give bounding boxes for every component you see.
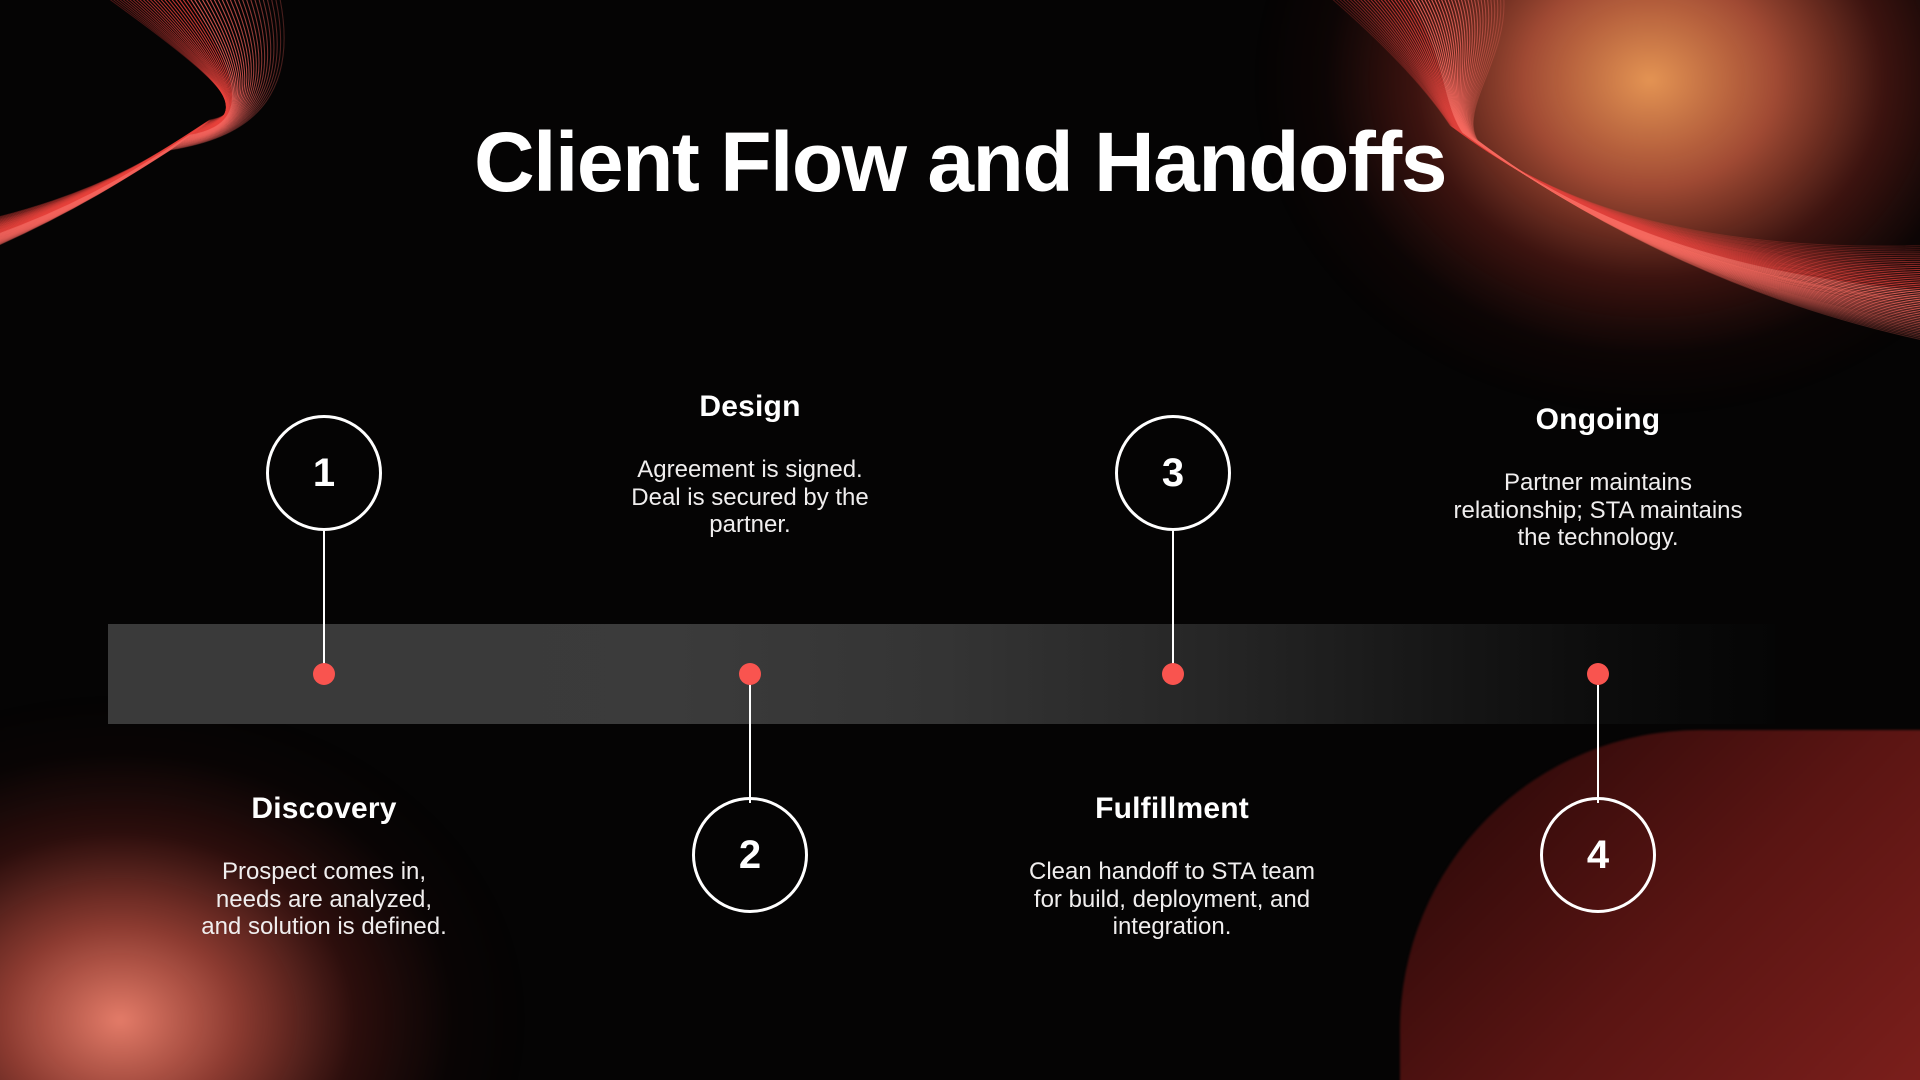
step-marker-2[interactable]: 2 (692, 797, 808, 913)
step-label-2: Design Agreement is signed. Deal is secu… (490, 390, 1010, 539)
step-connector-2 (749, 679, 751, 803)
timeline-bar (108, 624, 1775, 724)
step-dot-4[interactable] (1587, 663, 1609, 685)
step-body-line: Prospect comes in, (64, 858, 584, 886)
step-title-1: Discovery (64, 792, 584, 826)
step-body-line: Agreement is signed. (490, 456, 1010, 484)
step-body-line: partner. (490, 511, 1010, 539)
step-dot-1[interactable] (313, 663, 335, 685)
step-connector-3 (1172, 531, 1174, 668)
step-number-3: 3 (1162, 453, 1184, 493)
step-body-line: and solution is defined. (64, 913, 584, 941)
step-label-1: Discovery Prospect comes in, needs are a… (64, 792, 584, 941)
step-body-line: needs are analyzed, (64, 886, 584, 914)
slide-canvas: Client Flow and Handoffs 1 Discovery Pro… (0, 0, 1920, 1080)
step-dot-2[interactable] (739, 663, 761, 685)
step-body-line: relationship; STA maintains (1338, 497, 1858, 525)
step-body-line: the technology. (1338, 524, 1858, 552)
step-marker-4[interactable]: 4 (1540, 797, 1656, 913)
step-label-4: Ongoing Partner maintains relationship; … (1338, 403, 1858, 552)
step-number-4: 4 (1587, 835, 1609, 875)
step-body-3: Clean handoff to STA team for build, dep… (912, 858, 1432, 941)
step-connector-4 (1597, 679, 1599, 803)
step-body-line: Partner maintains (1338, 469, 1858, 497)
step-body-4: Partner maintains relationship; STA main… (1338, 469, 1858, 552)
step-body-line: for build, deployment, and (912, 886, 1432, 914)
step-number-2: 2 (739, 835, 761, 875)
step-title-2: Design (490, 390, 1010, 424)
step-connector-1 (323, 531, 325, 668)
step-title-4: Ongoing (1338, 403, 1858, 437)
dark-red-shape-decoration (1400, 730, 1920, 1080)
step-title-3: Fulfillment (912, 792, 1432, 826)
page-title: Client Flow and Handoffs (0, 118, 1920, 206)
step-dot-3[interactable] (1162, 663, 1184, 685)
orange-glow-decoration (1200, 0, 1920, 460)
step-body-line: Deal is secured by the (490, 484, 1010, 512)
step-body-line: integration. (912, 913, 1432, 941)
step-label-3: Fulfillment Clean handoff to STA team fo… (912, 792, 1432, 941)
step-body-2: Agreement is signed. Deal is secured by … (490, 456, 1010, 539)
step-number-1: 1 (313, 453, 335, 493)
step-body-line: Clean handoff to STA team (912, 858, 1432, 886)
step-body-1: Prospect comes in, needs are analyzed, a… (64, 858, 584, 941)
step-marker-1[interactable]: 1 (266, 415, 382, 531)
step-marker-3[interactable]: 3 (1115, 415, 1231, 531)
